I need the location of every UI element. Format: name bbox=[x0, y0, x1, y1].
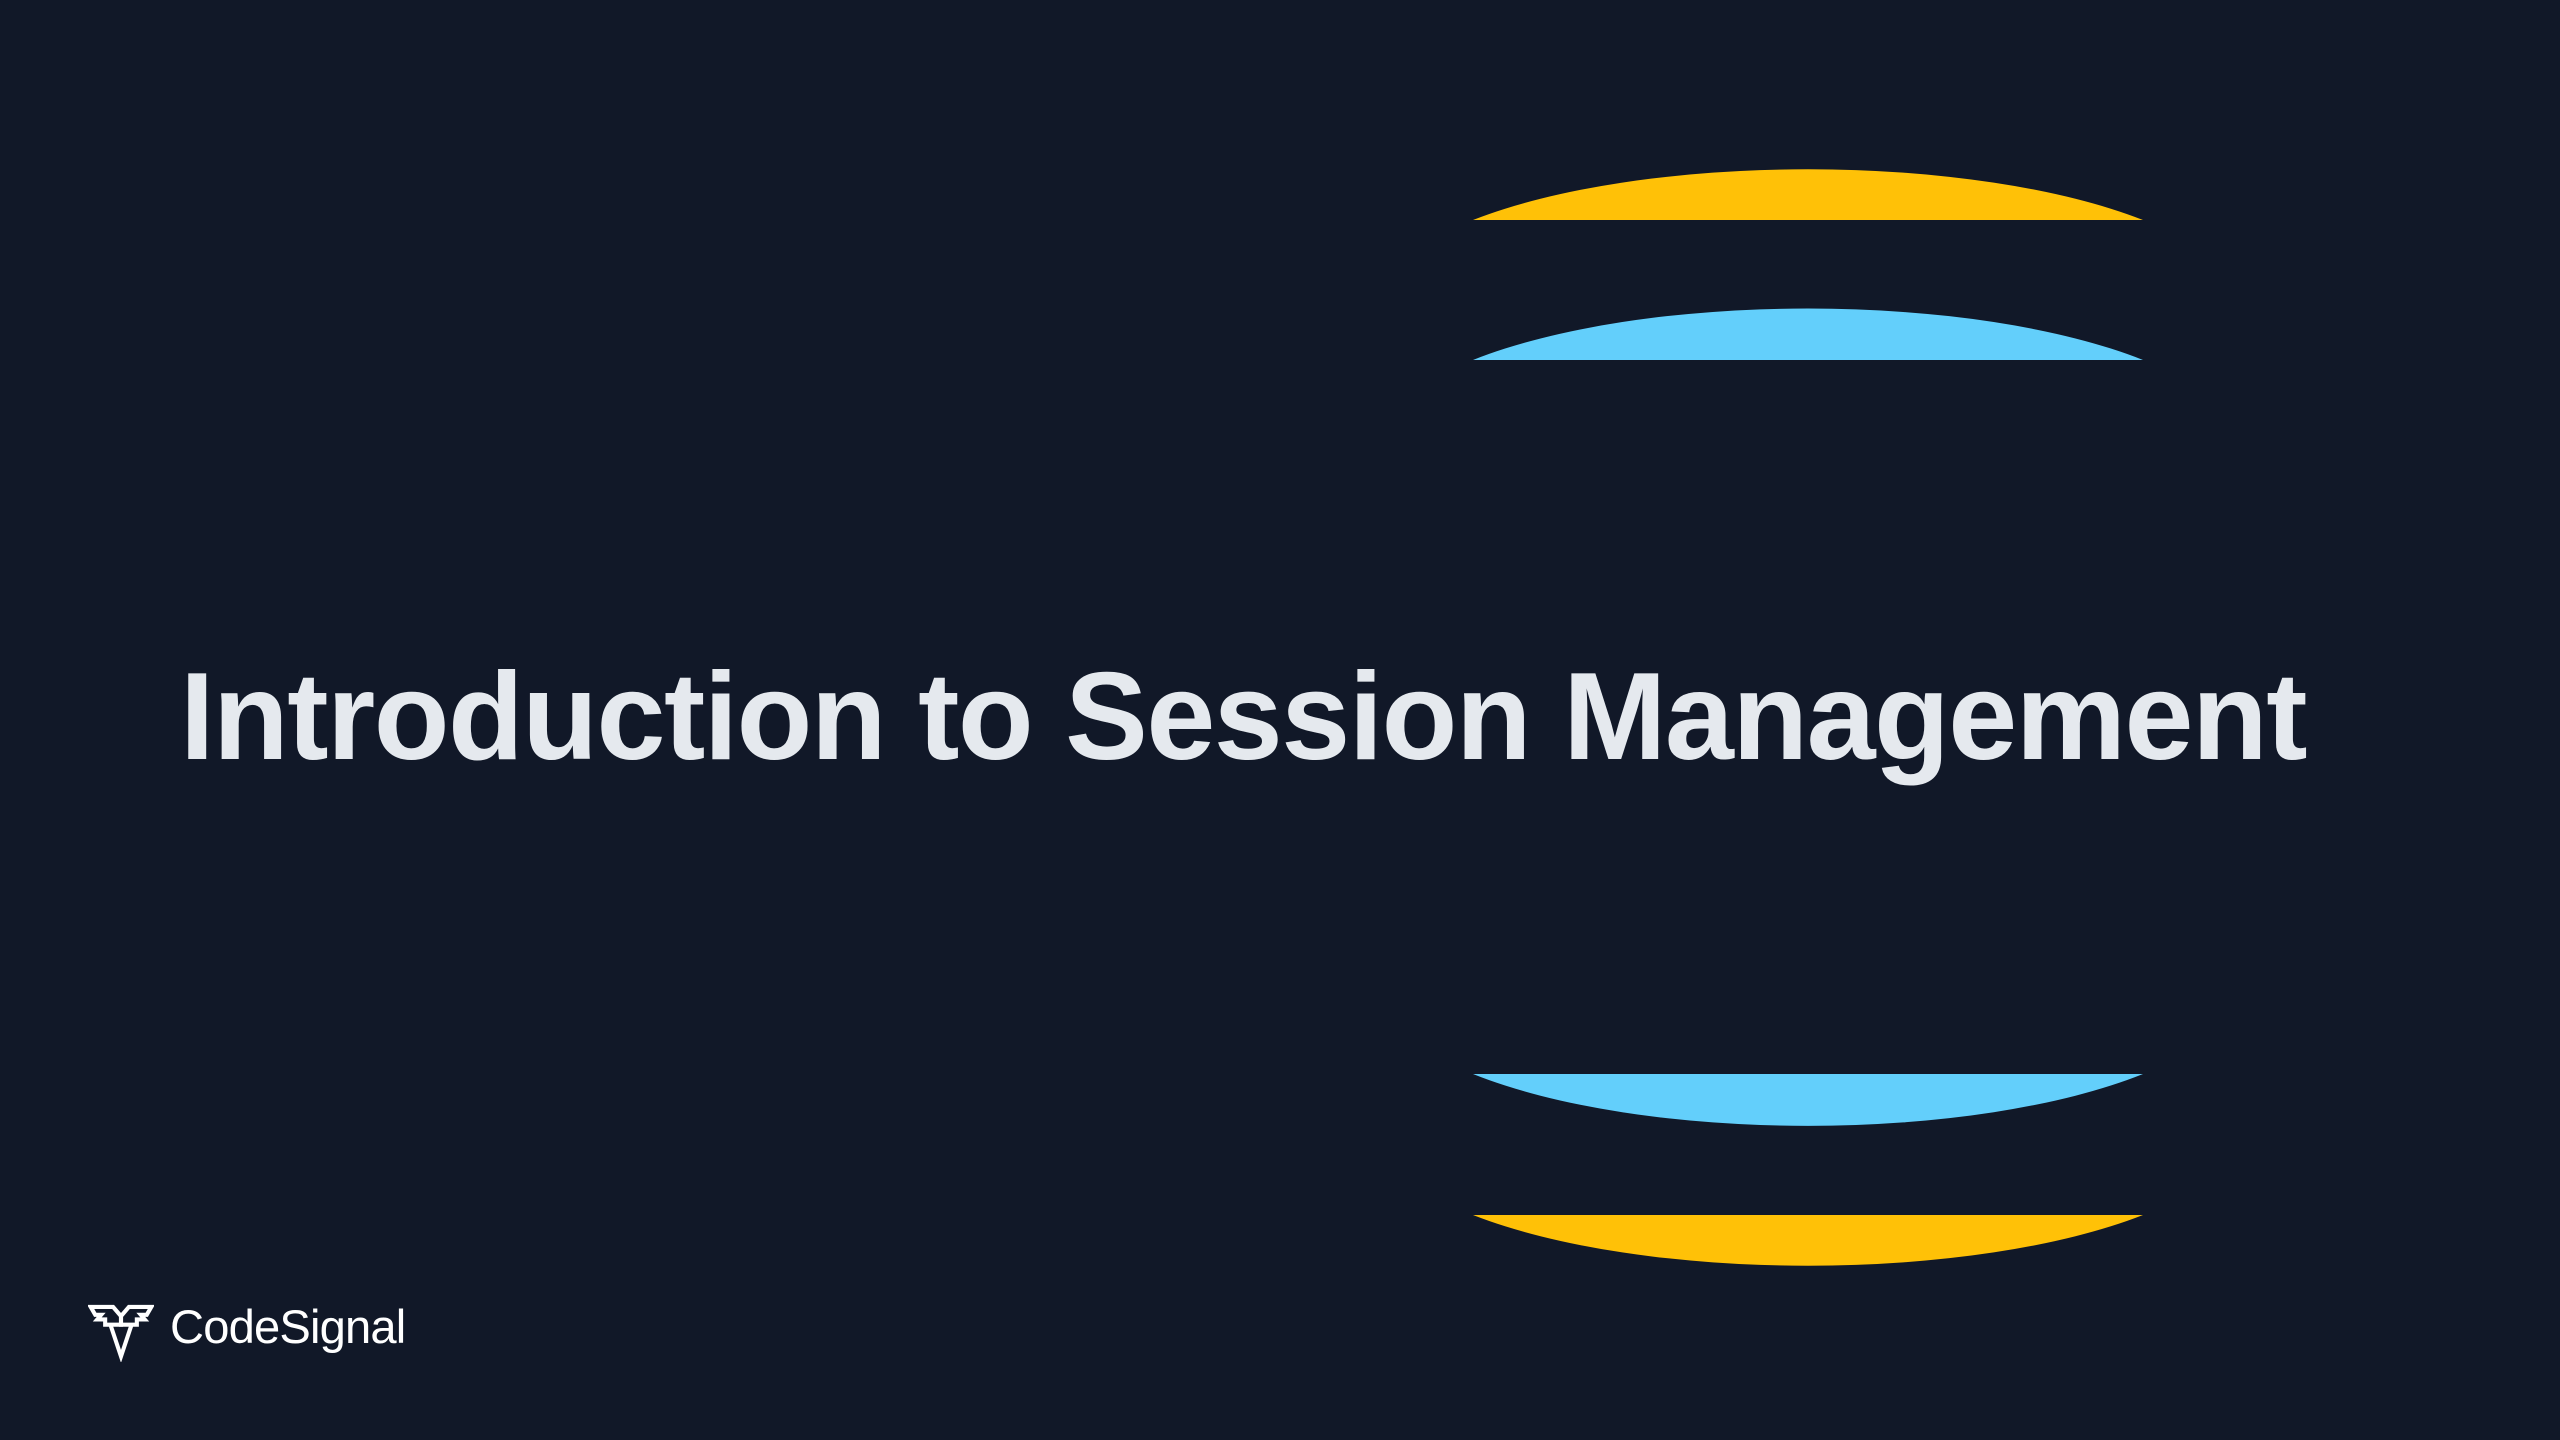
blue-dome-up bbox=[1473, 309, 2143, 360]
slide-canvas: Introduction to Session Management CodeS… bbox=[0, 0, 2560, 1440]
top-dome-svg bbox=[1473, 84, 2143, 360]
codesignal-logo: CodeSignal bbox=[88, 1297, 463, 1363]
yellow-bowl-down bbox=[1473, 1215, 2143, 1266]
codesignal-wordmark-text: CodeSignal bbox=[170, 1304, 405, 1353]
slide-title: Introduction to Session Management bbox=[180, 648, 2410, 787]
top-dome-cluster bbox=[1473, 84, 2143, 360]
codesignal-falcon-icon bbox=[88, 1298, 154, 1362]
bottom-bowl-svg bbox=[1473, 1074, 2143, 1351]
bottom-bowl-cluster bbox=[1473, 1074, 2143, 1351]
blue-bowl-down bbox=[1473, 1074, 2143, 1126]
yellow-dome-up bbox=[1473, 169, 2143, 220]
codesignal-wordmark: CodeSignal bbox=[170, 1304, 463, 1356]
